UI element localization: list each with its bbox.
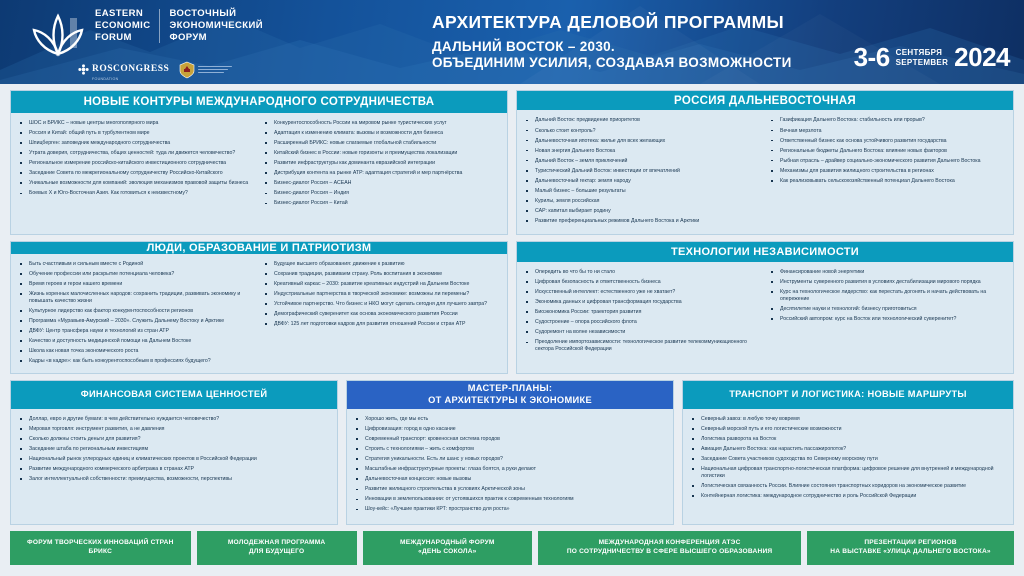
topic-item: Масштабные инфраструктурные проекты: гла… <box>353 466 667 473</box>
month-en: SEPTEMBER <box>896 58 949 67</box>
panel-body: ШОС и БРИКС – новые центры многополярног… <box>11 113 507 234</box>
footer-bar-youth-program[interactable]: МОЛОДЕЖНАЯ ПРОГРАММА ДЛЯ БУДУЩЕГО <box>197 531 357 565</box>
government-emblem <box>179 61 232 79</box>
roscongress-label: ROSCONGRESS <box>92 64 169 74</box>
topic-item: Дальний Восток – земля приключений <box>523 158 762 165</box>
topic-item: Цифровая безопасность и ответственность … <box>523 279 762 286</box>
topic-item: Курс на технологическое лидерство: как п… <box>768 289 1007 303</box>
topic-item: Развитие международного коммерческого ар… <box>17 466 331 473</box>
panel-body: Опередить во что бы то ни сталоЦифровая … <box>517 262 1013 373</box>
panel-title: ТЕХНОЛОГИИ НЕЗАВИСИМОСТИ <box>517 242 1013 262</box>
topic-item: Уникальные возможности для компаний: эво… <box>17 180 256 187</box>
topic-item: Будущее высшего образования: движение к … <box>262 261 501 268</box>
topic-item: Искусственный интеллект: естественного у… <box>523 289 762 296</box>
panel-row-3: ФИНАНСОВАЯ СИСТЕМА ЦЕННОСТЕЙ Доллар, евр… <box>10 380 1014 525</box>
topic-item: Стратегия уникальности. Есть ли шанс у н… <box>353 456 667 463</box>
topic-item: Финансирование новой энергетики <box>768 269 1007 276</box>
date-month-names: СЕНТЯБРЯ SEPTEMBER <box>896 48 949 66</box>
topic-item: Залог интеллектуальной собственности: пр… <box>17 476 331 483</box>
topic-list: Будущее высшего образования: движение к … <box>262 261 501 328</box>
event-year: 2024 <box>954 42 1010 73</box>
topic-item: Дальневосточная концессия: новые вызовы <box>353 476 667 483</box>
topic-item: Кадры «в кадре»: как быть конкурентоспос… <box>17 358 256 365</box>
topic-list: Северный завоз: в любую точку вовремяСев… <box>689 416 1007 500</box>
topic-item: Российский автопром: курс на Восток или … <box>768 316 1007 323</box>
panel-body: Дальний Восток: предвидение приоритетовС… <box>517 110 1013 234</box>
lotus-logo-icon <box>30 10 86 60</box>
topic-item: Региональные бюджеты Дальнего Востока: в… <box>768 148 1007 155</box>
topic-item: Как реализовывать сельскохозяйственный п… <box>768 178 1007 185</box>
topic-item: Заседание Совета участников судоходства … <box>689 456 1007 463</box>
topic-item: Развитие жилищного строительства в услов… <box>353 486 667 493</box>
footer-bar-apec-conference[interactable]: МЕЖДУНАРОДНАЯ КОНФЕРЕНЦИЯ АТЭС ПО СОТРУД… <box>538 531 801 565</box>
topic-item: Сколько стоит контроль? <box>523 128 762 135</box>
topic-item: Цифровизация: город в одно касание <box>353 426 667 433</box>
panel-title: НОВЫЕ КОНТУРЫ МЕЖДУНАРОДНОГО СОТРУДНИЧЕС… <box>11 91 507 113</box>
topic-item: Опередить во что бы то ни стало <box>523 269 762 276</box>
topic-item: Утрата доверия, сотрудничества, общих це… <box>17 150 256 157</box>
topic-item: Логистическая связанность России. Влияни… <box>689 483 1007 490</box>
topic-list: Конкурентоспособность России на мировом … <box>262 120 501 207</box>
panel-master-plans: МАСТЕР-ПЛАНЫ: ОТ АРХИТЕКТУРЫ К ЭКОНОМИКЕ… <box>346 380 674 525</box>
topic-item: Газификация Дальнего Востока: стабильнос… <box>768 117 1007 124</box>
panel-body: Быть счастливым и сильным вместе с Родин… <box>11 254 507 374</box>
topic-item: Преодоление импортозависимости: технолог… <box>523 339 762 353</box>
roscongress-logo: ROSCONGRESS FOUNDATION <box>78 58 169 81</box>
panel-body: Северный завоз: в любую точку вовремяСев… <box>683 409 1013 524</box>
topic-item: Хорошо жить, где мы есть <box>353 416 667 423</box>
topic-item: Логистика разворота на Восток <box>689 436 1007 443</box>
topic-list: Опередить во что бы то ни сталоЦифровая … <box>523 269 762 353</box>
topic-item: Культурное лидерство как фактор конкурен… <box>17 308 256 315</box>
topic-item: Экономика данных и цифровая трансформаци… <box>523 299 762 306</box>
poster-header: EASTERN ECONOMIC FORUM ВОСТОЧНЫЙ ЭКОНОМИ… <box>0 0 1024 84</box>
brand-name-en: EASTERN ECONOMIC FORUM <box>95 8 150 44</box>
panel-transport-and-logistics: ТРАНСПОРТ И ЛОГИСТИКА: НОВЫЕ МАРШРУТЫ Се… <box>682 380 1014 525</box>
panel-column: Быть счастливым и сильным вместе с Родин… <box>17 261 256 368</box>
topic-item: Сколько должны стоить деньги для развити… <box>17 436 331 443</box>
topic-item: Устойчивое партнерство. Что бизнес и НКО… <box>262 301 501 308</box>
poster-page: EASTERN ECONOMIC FORUM ВОСТОЧНЫЙ ЭКОНОМИ… <box>0 0 1024 576</box>
topic-item: Инструменты суверенного развития в услов… <box>768 279 1007 286</box>
topic-item: Адаптация к изменению климата: вызовы и … <box>262 130 501 137</box>
topic-item: Северный морской путь и его логистически… <box>689 426 1007 433</box>
panel-far-eastern-russia: РОССИЯ ДАЛЬНЕВОСТОЧНАЯ Дальний Восток: п… <box>516 90 1014 235</box>
panel-column: Дальний Восток: предвидение приоритетовС… <box>523 117 762 228</box>
program-board: НОВЫЕ КОНТУРЫ МЕЖДУНАРОДНОГО СОТРУДНИЧЕС… <box>0 84 1024 525</box>
topic-item: ДВФУ: 125 лет подготовки кадров для разв… <box>262 321 501 328</box>
topic-item: Обучение профессии или раскрытие потенци… <box>17 271 256 278</box>
topic-item: Развитие инфраструктуры как доминанта ев… <box>262 160 501 167</box>
panel-column: Доллар, евро и другие бумаги: в чем дейс… <box>17 416 331 518</box>
panel-technologies-of-independence: ТЕХНОЛОГИИ НЕЗАВИСИМОСТИ Опередить во чт… <box>516 241 1014 374</box>
topic-item: Малый бизнес – большие результаты <box>523 188 762 195</box>
panel-title: ЛЮДИ, ОБРАЗОВАНИЕ И ПАТРИОТИЗМ <box>11 242 507 254</box>
topic-item: Демографический суверенитет как основа э… <box>262 311 501 318</box>
footer-event-bars: ФОРУМ ТВОРЧЕСКИХ ИННОВАЦИЙ СТРАН БРИКС М… <box>0 531 1024 571</box>
topic-item: Биоэкономика России: траектория развития <box>523 309 762 316</box>
panel-body: Доллар, евро и другие бумаги: в чем дейс… <box>11 409 337 524</box>
panel-column: Газификация Дальнего Востока: стабильнос… <box>768 117 1007 228</box>
topic-item: Время героев и герои нашего времени <box>17 281 256 288</box>
panel-title: ФИНАНСОВАЯ СИСТЕМА ЦЕННОСТЕЙ <box>11 381 337 409</box>
topic-item: Жизнь коренных малочисленных народов: со… <box>17 291 256 305</box>
poster-subtitle-1: ДАЛЬНИЙ ВОСТОК – 2030. <box>432 39 792 55</box>
topic-item: Развитие преференциальных режимов Дальне… <box>523 218 762 225</box>
topic-item: Авиация Дальнего Востока: как нарастить … <box>689 446 1007 453</box>
topic-item: Индустриальные партнерства в творческой … <box>262 291 501 298</box>
topic-item: Курилы, земля российская <box>523 198 762 205</box>
panel-international-cooperation: НОВЫЕ КОНТУРЫ МЕЖДУНАРОДНОГО СОТРУДНИЧЕС… <box>10 90 508 235</box>
poster-title: АРХИТЕКТУРА ДЕЛОВОЙ ПРОГРАММЫ <box>432 12 792 32</box>
topic-item: Китайский бизнес в России: новые горизон… <box>262 150 501 157</box>
roscongress-flower-icon <box>78 64 89 75</box>
topic-item: Россия и Китай: общий путь в турбулентно… <box>17 130 256 137</box>
panel-column: Конкурентоспособность России на мировом … <box>262 120 501 228</box>
topic-item: Северный завоз: в любую точку вовремя <box>689 416 1007 423</box>
panel-row-1: НОВЫЕ КОНТУРЫ МЕЖДУНАРОДНОГО СОТРУДНИЧЕС… <box>10 90 1014 235</box>
footer-bar-region-presentations[interactable]: ПРЕЗЕНТАЦИИ РЕГИОНОВ НА ВЫСТАВКЕ «УЛИЦА … <box>807 531 1014 565</box>
topic-item: Рыбная отрасль – драйвер социально-эконо… <box>768 158 1007 165</box>
topic-list: Хорошо жить, где мы естьЦифровизация: го… <box>353 416 667 513</box>
topic-item: Национальный рынок углеродных единиц и к… <box>17 456 331 463</box>
topic-item: Туристический Дальний Восток: инвестиции… <box>523 168 762 175</box>
poster-subtitle-2: ОБЪЕДИНИМ УСИЛИЯ, СОЗДАВАЯ ВОЗМОЖНОСТИ <box>432 55 792 71</box>
topic-item: Дальний Восток: предвидение приоритетов <box>523 117 762 124</box>
topic-item: Заседание Совета по межрегиональному сот… <box>17 170 256 177</box>
panel-column: Будущее высшего образования: движение к … <box>262 261 501 368</box>
topic-item: Расширенный БРИКС: новые слагаемые глоба… <box>262 140 501 147</box>
topic-item: Шпицберген: заповедник международного со… <box>17 140 256 147</box>
topic-item: Судостроение – опора российского флота <box>523 319 762 326</box>
topic-item: Шоу-кейс: «Лучшие практики КРТ: простран… <box>353 506 667 513</box>
topic-list: Газификация Дальнего Востока: стабильнос… <box>768 117 1007 184</box>
topic-item: Судоремонт на волне независимости <box>523 329 762 336</box>
topic-item: Строить с технологиями – жить с комфорто… <box>353 446 667 453</box>
topic-item: Ответственный бизнес как основа устойчив… <box>768 138 1007 145</box>
footer-bar-falcon-day-forum[interactable]: МЕЖДУНАРОДНЫЙ ФОРУМ «ДЕНЬ СОКОЛА» <box>363 531 532 565</box>
topic-item: Вечная мерзлота <box>768 128 1007 135</box>
topic-item: Национальная цифровая транспортно-логист… <box>689 466 1007 480</box>
topic-item: Быть счастливым и сильным вместе с Родин… <box>17 261 256 268</box>
topic-item: ШОС и БРИКС – новые центры многополярног… <box>17 120 256 127</box>
topic-list: Финансирование новой энергетикиИнструмен… <box>768 269 1007 323</box>
panel-column: Опередить во что бы то ни сталоЦифровая … <box>523 269 762 367</box>
topic-list: Быть счастливым и сильным вместе с Родин… <box>17 261 256 365</box>
topic-item: Региональное измерение российско-китайск… <box>17 160 256 167</box>
panel-financial-system-of-values: ФИНАНСОВАЯ СИСТЕМА ЦЕННОСТЕЙ Доллар, евр… <box>10 380 338 525</box>
emblem-caption-lines <box>198 66 232 74</box>
panel-body: Хорошо жить, где мы естьЦифровизация: го… <box>347 409 673 524</box>
topic-item: Программа «Муравьев-Амурский – 2030». Сл… <box>17 318 256 325</box>
topic-item: Конкурентоспособность России на мировом … <box>262 120 501 127</box>
topic-item: Доллар, евро и другие бумаги: в чем дейс… <box>17 416 331 423</box>
topic-item: Мировая торговля: инструмент развития, а… <box>17 426 331 433</box>
topic-item: Заседание штаба по региональным инвестиц… <box>17 446 331 453</box>
panel-row-2: ЛЮДИ, ОБРАЗОВАНИЕ И ПАТРИОТИЗМ Быть счас… <box>10 241 1014 374</box>
topic-item: Боевых Х и Юго-Восточная Азия. Как готов… <box>17 190 256 197</box>
double-eagle-emblem-icon <box>179 61 195 79</box>
topic-list: Дальний Восток: предвидение приоритетовС… <box>523 117 762 224</box>
topic-item: Креативный каркас – 2030: развитие креат… <box>262 281 501 288</box>
brand-divider <box>159 9 160 43</box>
topic-item: Современный транспорт: кровеносная систе… <box>353 436 667 443</box>
topic-item: ДВФУ: Центр трансфера науки и технологий… <box>17 328 256 335</box>
topic-item: Школа как новая точка экономического рос… <box>17 348 256 355</box>
topic-item: Новая энергия Дальнего Востока <box>523 148 762 155</box>
brand-lockup: EASTERN ECONOMIC FORUM ВОСТОЧНЫЙ ЭКОНОМИ… <box>30 8 263 60</box>
topic-item: Контейнерная логистика: международное со… <box>689 493 1007 500</box>
panel-title: РОССИЯ ДАЛЬНЕВОСТОЧНАЯ <box>517 91 1013 110</box>
topic-item: Бизнес-диалог Россия – Индия <box>262 190 501 197</box>
topic-list: Доллар, евро и другие бумаги: в чем дейс… <box>17 416 331 483</box>
topic-item: Дальневосточный гектар: земля народу <box>523 178 762 185</box>
topic-item: САР: капитал выбирает родину <box>523 208 762 215</box>
month-ru: СЕНТЯБРЯ <box>896 48 949 57</box>
brand-name-ru: ВОСТОЧНЫЙ ЭКОНОМИЧЕСКИЙ ФОРУМ <box>169 8 262 44</box>
topic-item: Сохранив традиции, развиваем страну. Рол… <box>262 271 501 278</box>
date-range: 3-6 <box>854 42 890 73</box>
poster-title-block: АРХИТЕКТУРА ДЕЛОВОЙ ПРОГРАММЫ ДАЛЬНИЙ ВО… <box>432 12 792 72</box>
topic-item: Десятилетие науки и технологий: бизнесу … <box>768 306 1007 313</box>
panel-column: ШОС и БРИКС – новые центры многополярног… <box>17 120 256 228</box>
topic-item: Дистрибуция контента на рынке АТР: адапт… <box>262 170 501 177</box>
topic-item: Бизнес-диалог Россия – АСЕАН <box>262 180 501 187</box>
panel-title: ТРАНСПОРТ И ЛОГИСТИКА: НОВЫЕ МАРШРУТЫ <box>683 381 1013 409</box>
footer-bar-creative-innovations[interactable]: ФОРУМ ТВОРЧЕСКИХ ИННОВАЦИЙ СТРАН БРИКС <box>10 531 191 565</box>
panel-people-education-patriotism: ЛЮДИ, ОБРАЗОВАНИЕ И ПАТРИОТИЗМ Быть счас… <box>10 241 508 374</box>
panel-column: Хорошо жить, где мы естьЦифровизация: го… <box>353 416 667 518</box>
topic-item: Дальневосточная ипотека: жилье для всех … <box>523 138 762 145</box>
panel-column: Северный завоз: в любую точку вовремяСев… <box>689 416 1007 518</box>
event-date: 3-6 СЕНТЯБРЯ SEPTEMBER 2024 <box>854 42 1010 73</box>
topic-item: Бизнес-диалог Россия – Китай <box>262 200 501 207</box>
topic-item: Качество и доступность медицинской помощ… <box>17 338 256 345</box>
panel-title: МАСТЕР-ПЛАНЫ: ОТ АРХИТЕКТУРЫ К ЭКОНОМИКЕ <box>347 381 673 409</box>
topic-item: Инновации в землепользовании: от устоявш… <box>353 496 667 503</box>
topic-item: Механизмы для развития жилищного строите… <box>768 168 1007 175</box>
sponsor-logos: ROSCONGRESS FOUNDATION <box>78 58 232 81</box>
roscongress-sublabel: FOUNDATION <box>92 77 169 81</box>
topic-list: ШОС и БРИКС – новые центры многополярног… <box>17 120 256 197</box>
panel-column: Финансирование новой энергетикиИнструмен… <box>768 269 1007 367</box>
